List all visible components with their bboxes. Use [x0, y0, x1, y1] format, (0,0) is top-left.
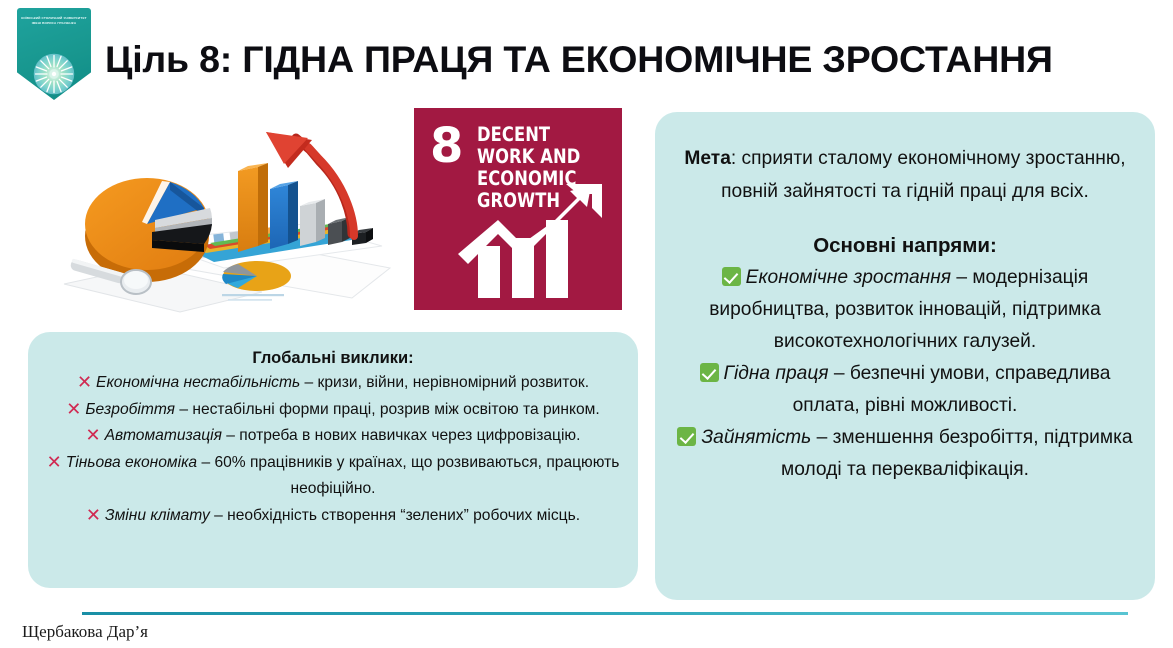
check-green-icon	[700, 363, 719, 382]
direction-text: – зменшення безробіття, підтримка молоді…	[781, 427, 1133, 480]
challenge-item: ✕Тіньова економіка – 60% працівників у к…	[46, 450, 620, 503]
crest-university-name: КИЇВСЬКИЙ СТОЛИЧНИЙ УНІВЕРСИТЕТ ІМЕНІ БО…	[21, 16, 87, 26]
direction-term: Гідна праця	[724, 363, 829, 384]
crest-name-line-2: ІМЕНІ БОРИСА ГРІНЧЕНКА	[21, 21, 87, 26]
direction-item: Гідна праця – безпечні умови, справедлив…	[669, 358, 1141, 422]
challenges-heading: Глобальні виклики:	[46, 346, 620, 370]
university-crest: КИЇВСЬКИЙ СТОЛИЧНИЙ УНІВЕРСИТЕТ ІМЕНІ БО…	[17, 8, 91, 100]
directions-heading: Основні напрями:	[655, 234, 1155, 258]
cross-red-icon: ✕	[47, 450, 62, 477]
direction-item: Економічне зростання – модернізація виро…	[669, 262, 1141, 358]
direction-term: Економічне зростання	[746, 267, 951, 288]
cross-red-icon: ✕	[77, 370, 92, 397]
page-title: Ціль 8: ГІДНА ПРАЦЯ ТА ЕКОНОМІЧНЕ ЗРОСТА…	[105, 36, 1165, 82]
goal-label: Мета	[684, 148, 730, 169]
check-green-icon	[722, 267, 741, 286]
footer-author: Щербакова Дар’я	[22, 622, 148, 642]
challenge-item: ✕Економічна нестабільність – кризи, війн…	[46, 370, 620, 397]
slide-root: КИЇВСЬКИЙ СТОЛИЧНИЙ УНІВЕРСИТЕТ ІМЕНІ БО…	[0, 0, 1173, 648]
goal-statement: Мета: сприяти сталому економічному зрост…	[655, 112, 1155, 208]
direction-text: – безпечні умови, справедлива оплата, рі…	[793, 363, 1111, 416]
growth-bars-arrow-icon	[454, 182, 604, 302]
challenge-text: – потреба в нових навичках через цифрові…	[222, 427, 581, 444]
challenge-term: Безробіття	[85, 401, 175, 418]
goal-text: : сприяти сталому економічному зростанню…	[721, 148, 1125, 202]
challenge-term: Тіньова економіка	[66, 454, 197, 471]
challenge-text: – 60% працівників у країнах, що розвиваю…	[197, 454, 619, 498]
challenge-term: Зміни клімату	[105, 507, 210, 524]
challenge-item: ✕Зміни клімату – необхідність створення …	[46, 503, 620, 530]
sdg-8-badge: 8 DECENT WORK AND ECONOMIC GROWTH	[414, 108, 622, 310]
challenge-item: ✕Безробіття – нестабільні форми праці, р…	[46, 397, 620, 424]
cross-red-icon: ✕	[66, 397, 81, 424]
challenge-text: – нестабільні форми праці, розрив між ос…	[175, 401, 600, 418]
cross-red-icon: ✕	[86, 423, 101, 450]
analytics-illustration	[52, 116, 404, 321]
direction-term: Зайнятість	[701, 427, 811, 448]
footer-divider	[82, 612, 1128, 615]
sdg-number: 8	[430, 122, 463, 170]
challenge-text: – необхідність створення “зелених” робоч…	[210, 507, 580, 524]
global-challenges-panel: Глобальні виклики: ✕Економічна нестабіль…	[28, 332, 638, 588]
challenge-term: Економічна нестабільність	[96, 374, 300, 391]
directions-list: Економічне зростання – модернізація виро…	[655, 258, 1155, 486]
analytics-illustration-art	[52, 116, 404, 321]
direction-item: Зайнятість – зменшення безробіття, підтр…	[669, 422, 1141, 486]
challenge-item: ✕Автоматизація – потреба в нових навичка…	[46, 423, 620, 450]
check-green-icon	[677, 427, 696, 446]
crest-star-emblem-icon	[32, 52, 76, 96]
cross-red-icon: ✕	[86, 503, 101, 530]
challenge-text: – кризи, війни, нерівномірний розвиток.	[300, 374, 589, 391]
goal-directions-panel: Мета: сприяти сталому економічному зрост…	[655, 112, 1155, 600]
challenge-term: Автоматизація	[105, 427, 222, 444]
